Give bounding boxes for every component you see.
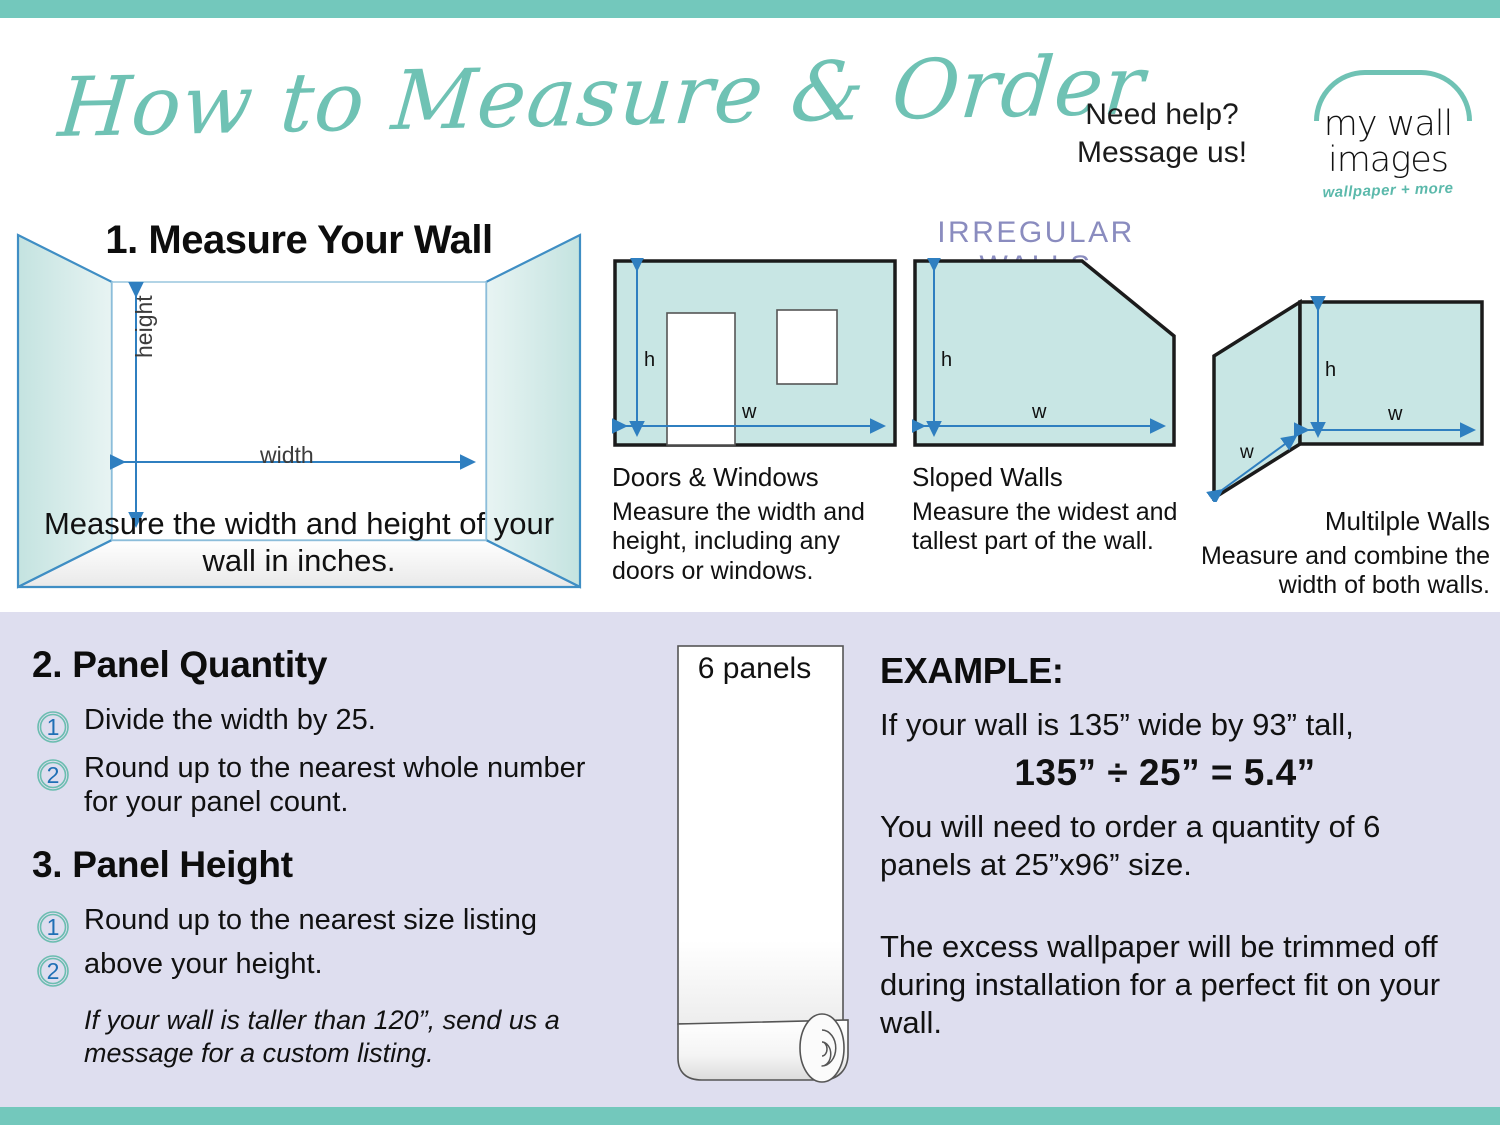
example-equation: 135” ÷ 25” = 5.4” <box>880 752 1450 794</box>
logo-tagline: wallpaper + more <box>1300 179 1476 202</box>
top-accent-bar <box>0 0 1500 18</box>
page-title: How to Measure & Order <box>56 48 1025 150</box>
step2-bullet-1: 1 Divide the width by 25. <box>32 704 592 748</box>
w-label: w <box>741 401 757 423</box>
bottom-accent-bar <box>0 1107 1500 1125</box>
need-help-line1: Need help? <box>1037 96 1287 134</box>
card1-desc: Measure the width and height, including … <box>612 498 898 587</box>
room-back-wall <box>112 282 486 540</box>
roll-end-face <box>800 1014 844 1082</box>
badge-3-icon: 1 <box>32 906 74 948</box>
w-label-side: w <box>1239 442 1254 463</box>
need-help-text: Need help? Message us! <box>1037 96 1287 173</box>
w-label: w <box>1031 401 1047 423</box>
badge-1-icon: 1 <box>32 706 74 748</box>
w-label-main: w <box>1387 403 1403 425</box>
card2-desc: Measure the widest and tallest part of t… <box>912 498 1180 557</box>
step3-heading: 3. Panel Height <box>32 844 293 886</box>
card-sloped-walls: h w Sloped Walls Measure the widest and … <box>912 258 1180 557</box>
badge-3-number: 1 <box>32 906 74 948</box>
doors-windows-diagram: h w <box>612 258 898 448</box>
badge-4-number: 2 <box>32 950 74 992</box>
side-wall-shape <box>1214 302 1300 498</box>
logo-line2: images <box>1300 140 1476 180</box>
card2-label: Sloped Walls <box>912 463 1180 492</box>
card3-desc: Measure and combine the width of both wa… <box>1192 542 1490 601</box>
example-title: EXAMPLE: <box>880 650 1064 692</box>
step3-bullet-1: 1 Round up to the nearest size listing <box>32 904 602 948</box>
multiple-walls-diagram: h w w <box>1192 254 1490 502</box>
h-label: h <box>644 349 655 371</box>
sloped-wall-diagram: h w <box>912 258 1180 448</box>
step3-bullet-2-text: above your height. <box>84 948 323 982</box>
step2-bullet-2: 2 Round up to the nearest whole number f… <box>32 752 592 820</box>
window-shape <box>777 310 837 384</box>
step2-heading: 2. Panel Quantity <box>32 644 327 686</box>
roll-panel-count-label: 6 panels <box>672 652 837 686</box>
section-measure-your-wall: 1. Measure Your Wall height width Measur… <box>0 208 598 608</box>
card1-label: Doors & Windows <box>612 463 898 492</box>
section1-caption: Measure the width and height of your wal… <box>20 505 578 579</box>
need-help-line2: Message us! <box>1037 134 1287 172</box>
header: How to Measure & Order Need help? Messag… <box>0 18 1500 208</box>
height-label: height <box>131 295 158 358</box>
step2-bullet-2-text: Round up to the nearest whole number for… <box>84 752 592 820</box>
card-doors-and-windows: h w Doors & Windows Measure the width an… <box>612 258 898 586</box>
step3-bullet-1-text: Round up to the nearest size listing <box>84 904 537 938</box>
example-line2: You will need to order a quantity of 6 p… <box>880 808 1460 884</box>
wallpaper-roll-illustration <box>672 640 888 1090</box>
card-multiple-walls: h w w Multilple Walls Measure and combin… <box>1192 258 1490 601</box>
section1-title: 1. Measure Your Wall <box>0 218 598 263</box>
width-label: width <box>260 442 314 469</box>
h-label: h <box>1325 359 1336 381</box>
step2-bullet-1-text: Divide the width by 25. <box>84 704 376 738</box>
step3-note: If your wall is taller than 120”, send u… <box>84 1004 584 1070</box>
brand-logo: my wall images wallpaper + more <box>1300 70 1476 218</box>
card3-label: Multilple Walls <box>1192 507 1490 536</box>
example-line1: If your wall is 135” wide by 93” tall, <box>880 706 1460 743</box>
step3-bullet-2: 2 above your height. <box>32 948 602 992</box>
example-line3: The excess wallpaper will be trimmed off… <box>880 928 1460 1041</box>
roll-flat-panel <box>678 646 843 1024</box>
logo-line1: my wall <box>1300 104 1476 144</box>
badge-1-number: 1 <box>32 706 74 748</box>
h-label: h <box>941 349 952 371</box>
badge-4-icon: 2 <box>32 950 74 992</box>
badge-2-number: 2 <box>32 754 74 796</box>
badge-2-icon: 2 <box>32 754 74 796</box>
